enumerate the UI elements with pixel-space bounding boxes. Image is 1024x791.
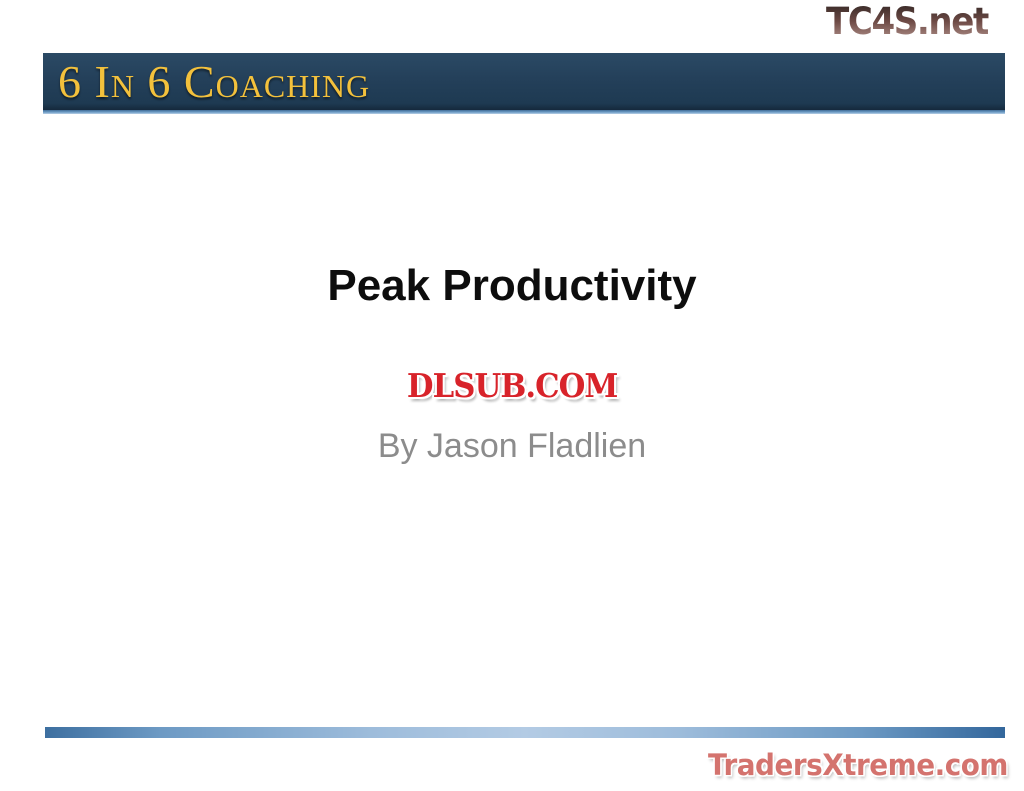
slide-content-block: Peak Productivity DLSUB.COM By Jason Fla… (112, 260, 912, 466)
dlsub-watermark: DLSUB.COM (407, 368, 618, 404)
tc4s-watermark: TC4S.net (826, 0, 1008, 44)
presentation-slide: TC4S.net 6 In 6 Coaching Peak Productivi… (0, 0, 1024, 791)
tradersxtreme-watermark: TradersXtreme.com (708, 748, 1008, 782)
page-title: Peak Productivity (112, 260, 912, 312)
header-banner: 6 In 6 Coaching (43, 53, 1005, 110)
header-banner-title: 6 In 6 Coaching (58, 56, 370, 108)
footer-divider-bar (45, 727, 1005, 738)
author-byline: By Jason Fladlien (112, 426, 912, 466)
